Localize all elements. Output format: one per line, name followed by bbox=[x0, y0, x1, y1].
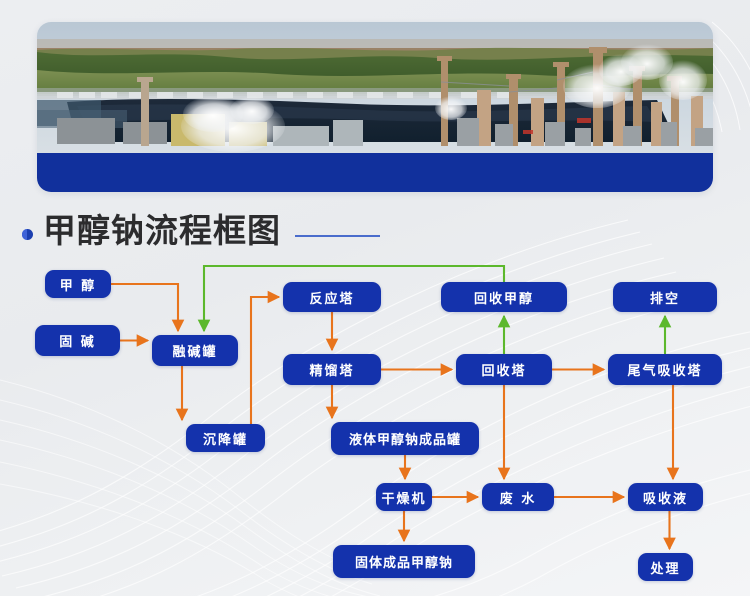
flow-node-reaction-tower[interactable]: 反应塔 bbox=[283, 282, 381, 312]
flow-node-solid-product[interactable]: 固体成品甲醇钠 bbox=[333, 545, 475, 578]
flow-node-label: 回收甲醇 bbox=[474, 288, 534, 307]
flow-node-methanol[interactable]: 甲 醇 bbox=[45, 270, 111, 298]
flow-node-dryer[interactable]: 干燥机 bbox=[376, 483, 432, 511]
flow-node-label: 吸收液 bbox=[643, 488, 688, 507]
flow-node-label: 固 碱 bbox=[59, 331, 96, 350]
flow-node-label: 废 水 bbox=[500, 488, 537, 507]
flow-node-liquid-product-tank[interactable]: 液体甲醇钠成品罐 bbox=[331, 422, 479, 455]
flow-node-alkali-melt-tank[interactable]: 融碱罐 bbox=[152, 335, 238, 366]
flow-node-label: 尾气吸收塔 bbox=[627, 360, 702, 379]
flow-node-label: 处理 bbox=[650, 558, 680, 577]
flow-node-label: 固体成品甲醇钠 bbox=[355, 552, 453, 571]
flow-node-tailgas-tower[interactable]: 尾气吸收塔 bbox=[608, 354, 722, 385]
flow-edge-settling-tank-to-reaction-tower bbox=[251, 297, 279, 424]
flow-node-label: 排空 bbox=[650, 288, 680, 307]
flow-node-vent[interactable]: 排空 bbox=[613, 282, 717, 312]
flow-node-rectifying-tower[interactable]: 精馏塔 bbox=[283, 354, 381, 385]
flow-node-label: 反应塔 bbox=[309, 288, 354, 307]
flow-node-settling-tank[interactable]: 沉降罐 bbox=[186, 424, 265, 452]
flow-node-label: 干燥机 bbox=[381, 488, 426, 507]
process-flow-diagram: 甲 醇固 碱融碱罐沉降罐反应塔精馏塔液体甲醇钠成品罐干燥机固体成品甲醇钠回收甲醇… bbox=[0, 0, 750, 596]
flow-edge-methanol-to-alkali-melt-tank bbox=[111, 284, 178, 331]
flow-node-label: 液体甲醇钠成品罐 bbox=[349, 429, 461, 448]
flow-node-label: 回收塔 bbox=[481, 360, 526, 379]
flow-node-solid-alkali[interactable]: 固 碱 bbox=[35, 325, 120, 356]
flow-node-recovery-tower[interactable]: 回收塔 bbox=[456, 354, 552, 385]
flow-node-treatment[interactable]: 处理 bbox=[638, 553, 693, 581]
flow-node-recovered-methanol[interactable]: 回收甲醇 bbox=[441, 282, 567, 312]
flow-node-wastewater[interactable]: 废 水 bbox=[482, 483, 554, 511]
flow-node-absorption-liquid[interactable]: 吸收液 bbox=[628, 483, 703, 511]
flow-node-label: 甲 醇 bbox=[60, 275, 97, 294]
flow-node-label: 沉降罐 bbox=[203, 429, 248, 448]
flow-node-label: 融碱罐 bbox=[172, 341, 217, 360]
flow-node-label: 精馏塔 bbox=[309, 360, 354, 379]
page-root: 甲醇钠流程框图 甲 醇固 碱融碱罐沉降罐反应塔精馏塔液体甲醇钠成品罐干燥机固体成… bbox=[0, 0, 750, 596]
